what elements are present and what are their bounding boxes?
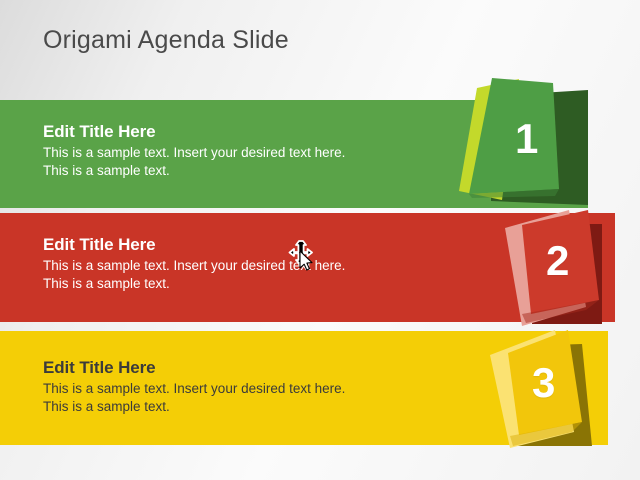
row-body-1: This is a sample text. Insert your desir… — [43, 144, 373, 179]
row-band-red-extension — [490, 213, 615, 322]
row-band-green-extension — [470, 100, 588, 208]
agenda-row-1[interactable]: Edit Title Here This is a sample text. I… — [0, 100, 640, 208]
row-title-3: Edit Title Here — [43, 357, 373, 378]
agenda-row-3[interactable]: Edit Title Here This is a sample text. I… — [0, 331, 640, 445]
agenda-row-2[interactable]: Edit Title Here This is a sample text. I… — [0, 213, 640, 322]
row-title-2: Edit Title Here — [43, 234, 373, 255]
row-title-1: Edit Title Here — [43, 121, 373, 142]
row-text-block-3: Edit Title Here This is a sample text. I… — [43, 357, 373, 415]
row-text-block-2: Edit Title Here This is a sample text. I… — [43, 234, 373, 292]
row-body-3: This is a sample text. Insert your desir… — [43, 380, 373, 415]
row-body-2: This is a sample text. Insert your desir… — [43, 257, 373, 292]
page-title: Origami Agenda Slide — [43, 26, 289, 55]
slide-canvas: Origami Agenda Slide Edit Title Here Thi… — [0, 0, 640, 480]
row-band-yellow-extension — [478, 331, 608, 445]
row-text-block-1: Edit Title Here This is a sample text. I… — [43, 121, 373, 179]
